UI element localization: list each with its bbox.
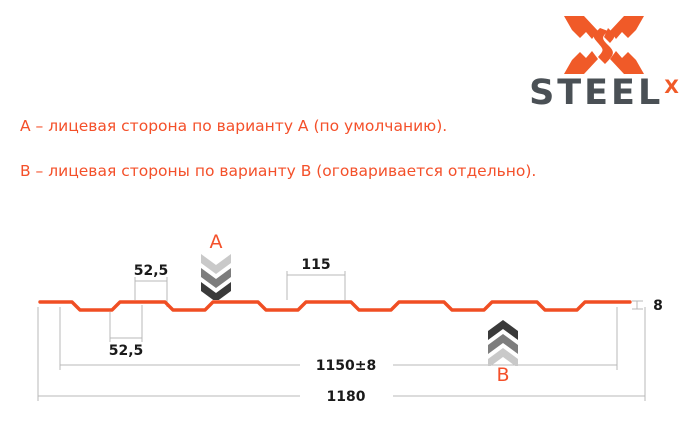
variant-b-label: B [481,366,525,385]
brand-logo: STEELX [520,14,688,114]
logo-wordmark: STEELX [520,76,688,112]
variant-a-label: A [194,233,238,252]
legend-variant-a: A – лицевая сторона по варианту А (по ум… [20,117,447,135]
variant-a-marker: A [194,233,238,300]
dimension-rib-bottom-width: 52,5 [109,343,144,359]
dimension-height: 8 [653,298,663,314]
x-logo-icon [562,14,646,76]
chevron-up-icon [481,318,525,366]
dimension-working-width: 1150±8 [316,358,376,374]
dimension-pitch: 115 [301,257,330,273]
chevron-down-icon [194,252,238,300]
logo-superscript-x: X [664,78,679,97]
dimension-rib-top-width: 52,5 [134,263,169,279]
logo-steel-text: STEEL [529,76,663,111]
dimension-total-width: 1180 [327,389,366,405]
profile-cross-section-drawing: 52,5 52,5 115 8 1150±8 1180 [0,215,700,420]
legend-variant-b: B – лицевая стороны по варианту B (огова… [20,162,536,180]
variant-b-marker: B [481,318,525,385]
sheet-profile-line [40,302,630,310]
